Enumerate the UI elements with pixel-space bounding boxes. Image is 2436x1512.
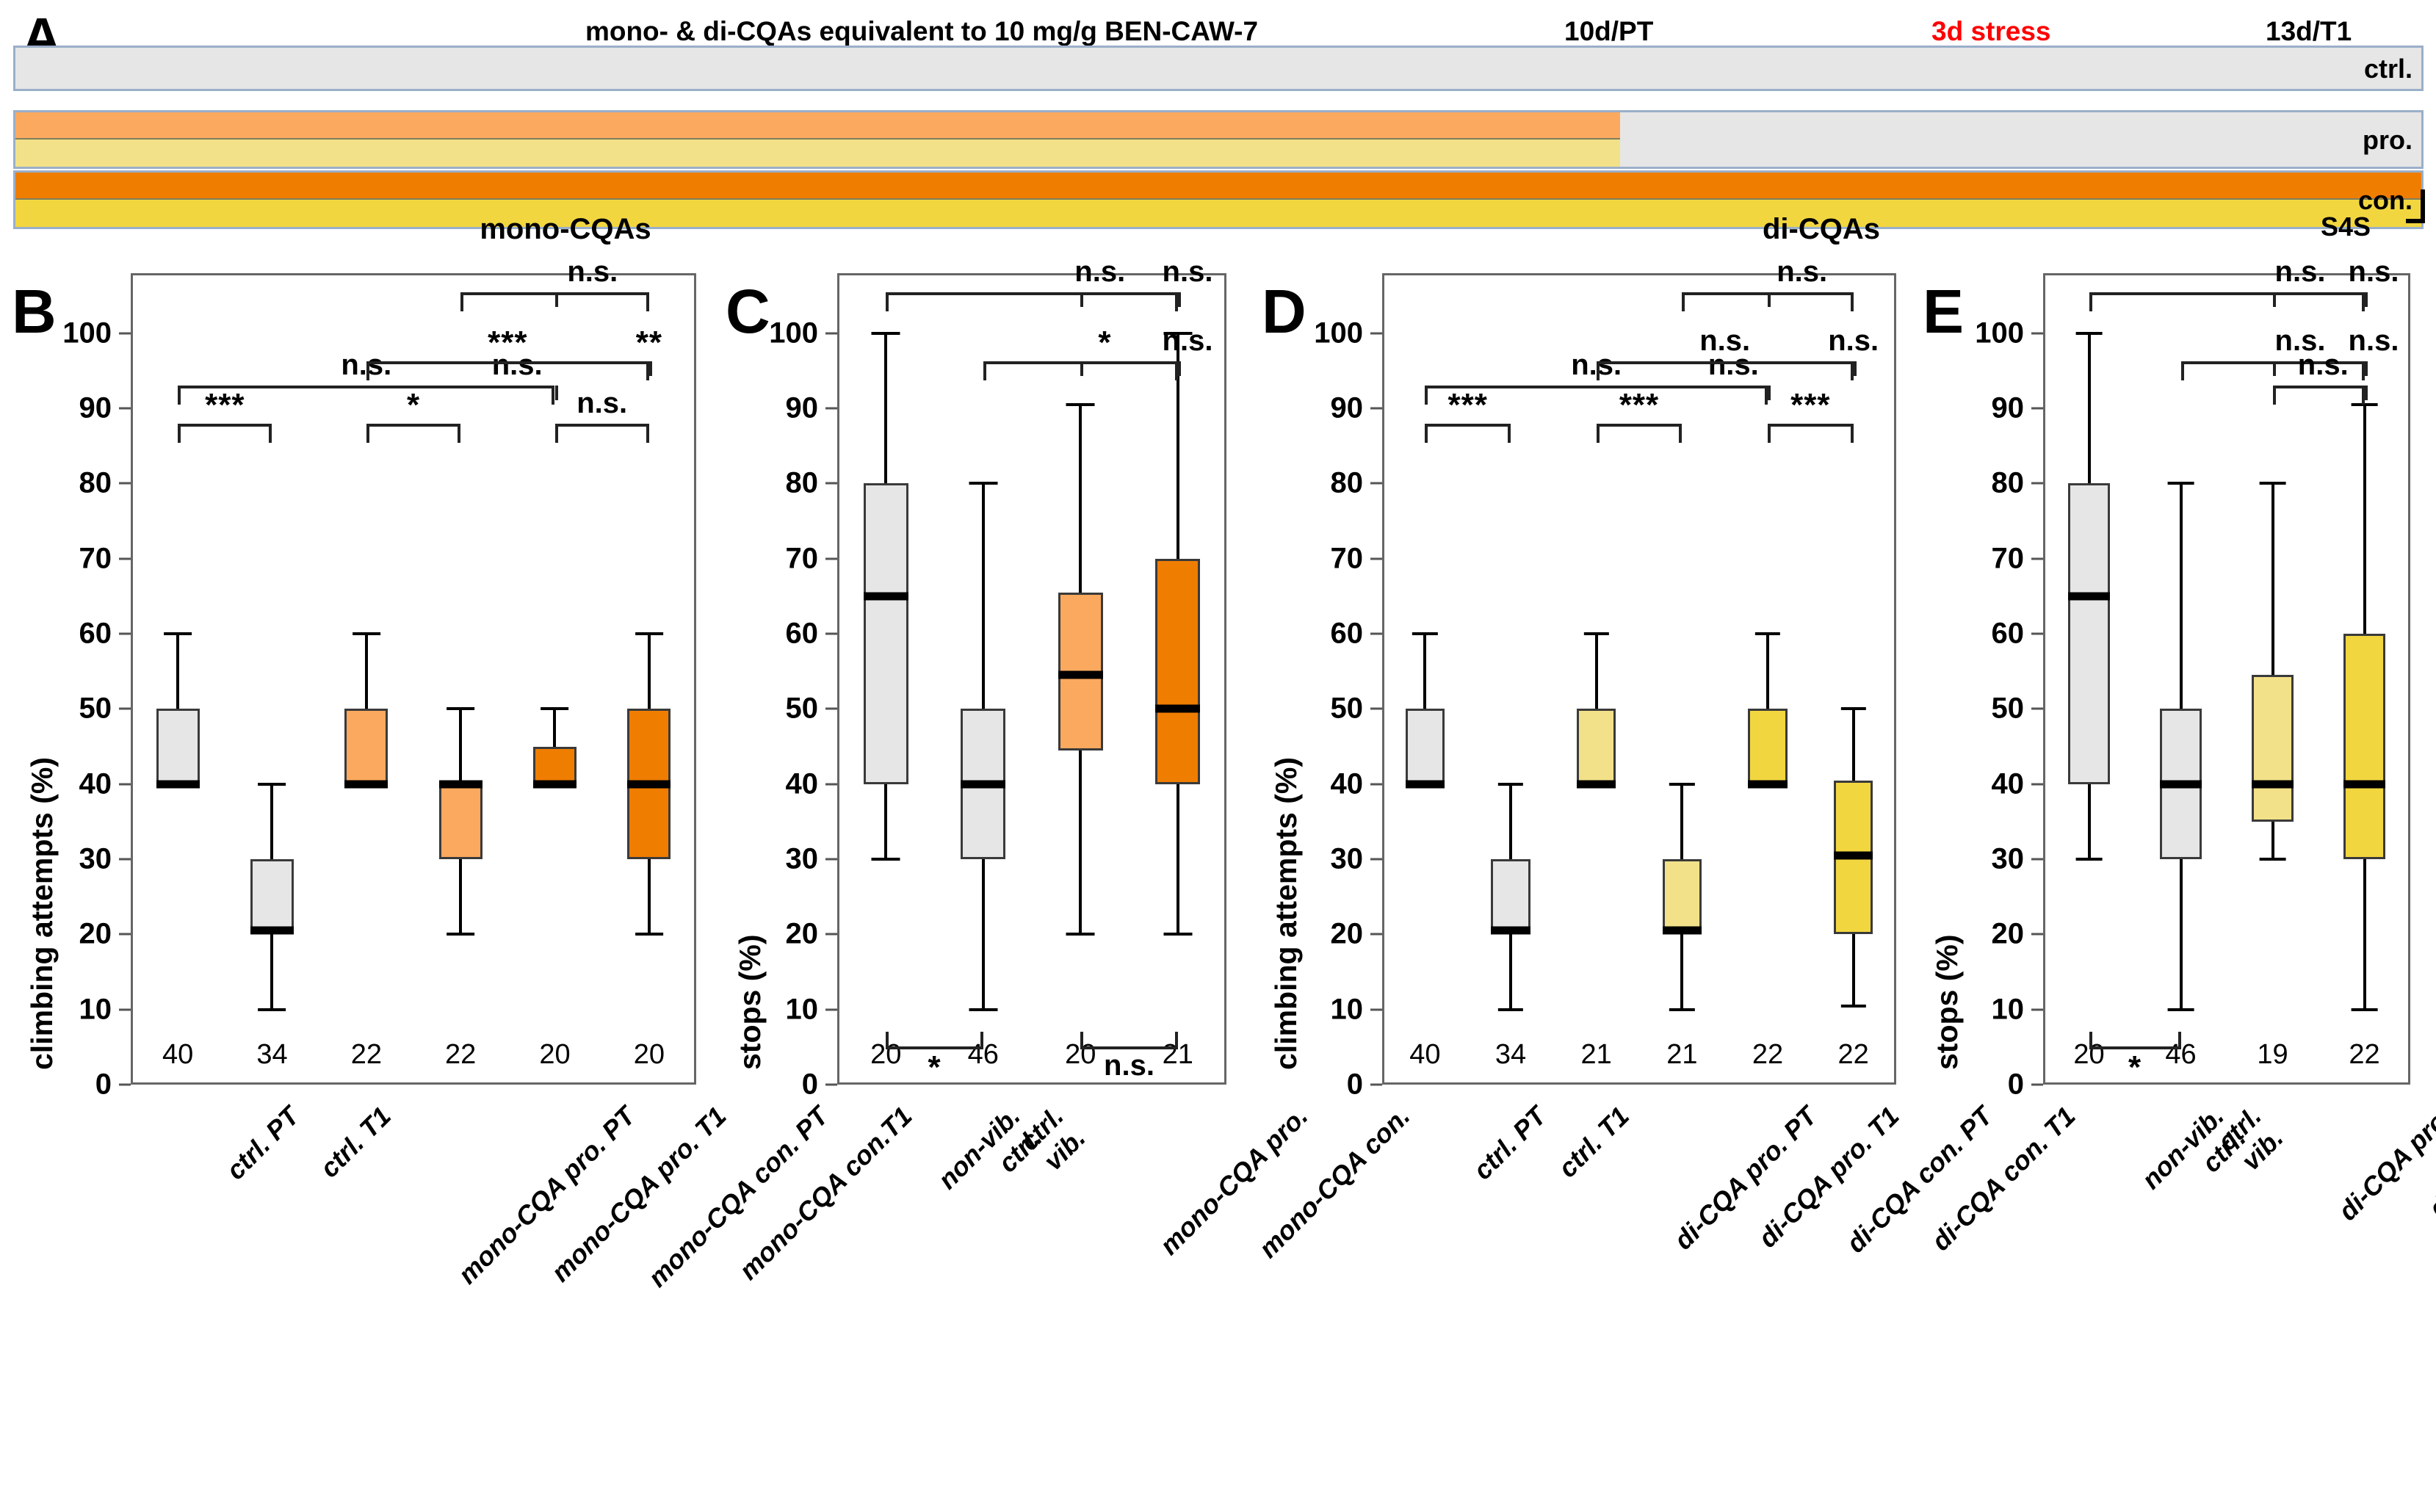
treatment-track-pro: pro.: [13, 110, 2424, 169]
boxplot-d-2: [1577, 258, 1616, 1085]
whisker-cap-lower: [969, 1008, 997, 1011]
y-tick-mark: [2031, 557, 2043, 560]
y-tick-label: 70: [31, 542, 112, 575]
whisker-upper: [2088, 333, 2091, 484]
median-line: [533, 780, 577, 788]
s4s-label: S4S: [2321, 211, 2371, 242]
x-axis-category-label: ctrl. T1: [314, 1101, 397, 1184]
y-tick-mark: [2031, 1084, 2043, 1086]
whisker-upper: [1079, 405, 1082, 593]
boxplot-b-4: [533, 258, 577, 1085]
y-tick-label: 100: [1943, 316, 2024, 350]
y-tick-label: 30: [1282, 843, 1363, 876]
significance-label: n.s.: [2275, 256, 2326, 289]
whisker-cap-upper: [1840, 707, 1865, 710]
y-tick-label: 90: [1282, 392, 1363, 425]
y-tick-label: 40: [737, 767, 818, 800]
whisker-cap-lower: [447, 933, 474, 936]
y-tick-mark: [1370, 933, 1382, 936]
significance-bracket-tick: [1178, 361, 1181, 376]
whisker-cap-upper: [1412, 632, 1437, 635]
iqr-box: [533, 747, 577, 784]
whisker-upper: [1423, 634, 1426, 709]
y-tick-mark: [2031, 858, 2043, 861]
whisker-upper: [1766, 634, 1769, 709]
panel-b-boxplot: Bclimbing attempts (%)010203040506070809…: [0, 258, 720, 1512]
y-tick-label: 10: [1943, 993, 2024, 1026]
whisker-cap-upper: [259, 783, 286, 786]
whisker-cap-upper: [541, 707, 569, 710]
median-line: [961, 780, 1005, 788]
x-axis-category-label: ctrl. T1: [1553, 1101, 1636, 1184]
whisker-lower: [1177, 784, 1179, 935]
y-tick-mark: [2031, 708, 2043, 710]
significance-bracket-tick: [1854, 361, 1857, 376]
x-axis-category-label: ctrl. PT: [1467, 1101, 1553, 1186]
y-tick-mark: [119, 408, 131, 410]
whisker-cap-upper: [635, 632, 663, 635]
iqr-box: [156, 709, 200, 784]
significance-label: n.s.: [1777, 256, 1827, 289]
sample-size-label: 21: [1666, 1039, 1697, 1071]
timeline-start-label: 10d/PT: [1564, 16, 1653, 47]
track-label-con: con.: [2358, 187, 2412, 214]
significance-label: n.s.: [2349, 325, 2399, 358]
y-tick-mark: [825, 633, 837, 635]
significance-bracket: [983, 361, 1178, 380]
significance-label: n.s.: [2349, 256, 2399, 289]
y-tick-mark: [2031, 332, 2043, 334]
significance-label: n.s.: [577, 387, 627, 420]
sample-size-label: 34: [256, 1039, 287, 1071]
y-tick-label: 80: [1282, 467, 1363, 500]
iqr-box: [1155, 559, 1200, 784]
significance-bracket: [2089, 1032, 2181, 1049]
significance-bracket: [178, 424, 272, 443]
y-tick-label: 70: [1943, 542, 2024, 575]
y-tick-label: 20: [31, 918, 112, 951]
y-tick-label: 80: [31, 467, 112, 500]
significance-bracket-tick: [555, 292, 558, 307]
y-tick-label: 90: [737, 392, 818, 425]
y-tick-label: 20: [1943, 918, 2024, 951]
y-tick-label: 30: [737, 843, 818, 876]
whisker-cap-lower: [1840, 1005, 1865, 1008]
track-label-ctrl: ctrl.: [2364, 56, 2412, 82]
whisker-cap-upper: [969, 482, 997, 485]
significance-bracket: [886, 1032, 983, 1049]
y-tick-mark: [1370, 633, 1382, 635]
whisker-lower: [1509, 934, 1512, 1009]
significance-label: n.s.: [1074, 256, 1125, 289]
y-tick-mark: [825, 1084, 837, 1086]
sample-size-label: 40: [162, 1039, 193, 1071]
whisker-cap-upper: [164, 632, 192, 635]
significance-bracket: [1080, 1032, 1178, 1049]
track-segment-di-cqa-light-yellow: [15, 140, 1620, 167]
whisker-lower: [884, 784, 887, 859]
whisker-upper: [2271, 483, 2274, 675]
boxplot-e-0: [2068, 258, 2111, 1085]
significance-bracket-tick: [2365, 386, 2368, 400]
y-tick-label: 50: [737, 692, 818, 726]
median-line: [1748, 780, 1788, 788]
x-axis-category-label: mono-CQA pro. T1: [545, 1101, 732, 1288]
median-line: [1406, 780, 1445, 788]
whisker-cap-lower: [2075, 858, 2103, 861]
y-tick-label: 60: [31, 618, 112, 651]
sample-size-label: 22: [2349, 1039, 2379, 1071]
whisker-upper: [1680, 784, 1683, 859]
y-tick-label: 50: [1282, 692, 1363, 726]
significance-label: n.s.: [1828, 325, 1879, 358]
significance-bracket-tick: [649, 361, 652, 376]
significance-label: *: [928, 1049, 941, 1086]
whisker-lower: [459, 859, 462, 934]
y-tick-label: 0: [737, 1068, 818, 1102]
significance-bracket: [366, 424, 460, 443]
median-line: [2252, 780, 2294, 788]
median-line: [2343, 780, 2386, 788]
boxplot-c-3: [1155, 258, 1200, 1085]
x-axis-category-label: di-CQA pro. PT: [1668, 1101, 1823, 1256]
whisker-upper: [1509, 784, 1512, 859]
panel-d-boxplot: Dclimbing attempts (%)010203040506070809…: [1256, 258, 1917, 1512]
significance-bracket: [178, 386, 554, 405]
sample-size-label: 20: [539, 1039, 570, 1071]
sample-size-label: 22: [445, 1039, 476, 1071]
significance-label: n.s.: [567, 256, 618, 289]
iqr-box: [1663, 859, 1702, 934]
boxplot-c-2: [1058, 258, 1103, 1085]
whisker-lower: [2088, 784, 2091, 859]
y-tick-label: 50: [31, 692, 112, 726]
y-tick-label: 60: [737, 618, 818, 651]
significance-label: n.s.: [1104, 1049, 1154, 1082]
y-tick-label: 40: [1282, 767, 1363, 800]
y-tick-label: 30: [31, 843, 112, 876]
sample-size-label: 34: [1495, 1039, 1526, 1071]
y-tick-label: 70: [737, 542, 818, 575]
sample-size-label: 22: [351, 1039, 382, 1071]
boxplot-e-2: [2252, 258, 2294, 1085]
whisker-upper: [270, 784, 273, 859]
iqr-box: [864, 483, 908, 784]
whisker-cap-upper: [2167, 482, 2194, 485]
whisker-upper: [884, 333, 887, 484]
iqr-box: [2343, 634, 2386, 859]
whisker-upper: [1852, 709, 1855, 780]
y-tick-label: 10: [31, 993, 112, 1026]
whisker-cap-upper: [1755, 632, 1780, 635]
significance-bracket-tick: [2365, 292, 2368, 307]
whisker-cap-lower: [2259, 858, 2286, 861]
significance-bracket: [1597, 424, 1683, 443]
median-line: [1491, 927, 1530, 935]
whisker-cap-upper: [353, 632, 380, 635]
whisker-cap-lower: [635, 933, 663, 936]
iqr-box: [2068, 483, 2111, 784]
y-tick-label: 20: [1282, 918, 1363, 951]
y-tick-mark: [119, 858, 131, 861]
boxplot-d-5: [1834, 258, 1873, 1085]
significance-label: n.s.: [1699, 325, 1750, 358]
y-tick-mark: [119, 482, 131, 485]
significance-bracket: [1425, 386, 1768, 405]
significance-bracket: [2089, 292, 2365, 311]
y-tick-label: 70: [1282, 542, 1363, 575]
significance-label: *: [1098, 325, 1111, 361]
sample-size-label: 19: [2257, 1039, 2288, 1071]
panel-c-boxplot: Cstops (%)010203040506070809010020non-vi…: [720, 258, 1256, 1512]
y-tick-label: 90: [1943, 392, 2024, 425]
x-axis-category-label: mono-CQA pro. PT: [452, 1101, 641, 1290]
significance-label: ***: [1790, 387, 1830, 424]
whisker-lower: [2271, 822, 2274, 859]
y-tick-label: 40: [31, 767, 112, 800]
boxplot-d-3: [1663, 258, 1702, 1085]
y-tick-mark: [2031, 482, 2043, 485]
y-tick-label: 60: [1943, 618, 2024, 651]
iqr-box: [1491, 859, 1530, 934]
y-tick-mark: [1370, 557, 1382, 560]
y-tick-mark: [119, 1084, 131, 1086]
sample-size-label: 40: [1409, 1039, 1440, 1071]
significance-bracket: [1425, 424, 1511, 443]
whisker-upper: [1595, 634, 1598, 709]
boxplot-e-1: [2160, 258, 2202, 1085]
whisker-cap-upper: [2075, 332, 2103, 335]
whisker-cap-lower: [872, 858, 900, 861]
median-line: [1834, 851, 1873, 859]
y-tick-mark: [1370, 408, 1382, 410]
significance-bracket: [1768, 424, 1854, 443]
panel-a-title: mono- & di-CQAs equivalent to 10 mg/g BE…: [345, 16, 1498, 47]
median-line: [2160, 780, 2202, 788]
track-segment-mono-cqa-light-orange: [15, 112, 1620, 140]
iqr-box: [439, 784, 482, 859]
y-tick-label: 80: [1943, 467, 2024, 500]
y-tick-mark: [825, 933, 837, 936]
y-tick-mark: [119, 557, 131, 560]
y-tick-mark: [825, 557, 837, 560]
significance-bracket-tick: [1768, 292, 1771, 307]
whisker-cap-upper: [872, 332, 900, 335]
whisker-cap-upper: [1669, 783, 1694, 786]
y-tick-mark: [1370, 1084, 1382, 1086]
y-tick-mark: [825, 482, 837, 485]
sample-size-label: 22: [1752, 1039, 1783, 1071]
whisker-cap-upper: [1498, 783, 1523, 786]
boxplot-d-1: [1491, 258, 1530, 1085]
whisker-cap-upper: [447, 707, 474, 710]
y-tick-mark: [825, 783, 837, 785]
whisker-lower: [1852, 934, 1855, 1005]
whisker-cap-lower: [1669, 1008, 1694, 1011]
significance-bracket-tick: [1768, 386, 1771, 400]
median-line: [1058, 671, 1103, 679]
y-tick-mark: [825, 708, 837, 710]
y-tick-mark: [1370, 1008, 1382, 1010]
iqr-box: [250, 859, 294, 934]
y-tick-label: 60: [1282, 618, 1363, 651]
median-line: [864, 592, 908, 600]
significance-bracket-tick: [2365, 361, 2368, 376]
x-axis-category-label: ctrl. PT: [220, 1101, 306, 1186]
y-tick-label: 30: [1943, 843, 2024, 876]
y-tick-mark: [1370, 858, 1382, 861]
y-tick-label: 0: [1943, 1068, 2024, 1102]
median-line: [1577, 780, 1616, 788]
iqr-box: [1577, 709, 1616, 784]
whisker-lower: [1079, 750, 1082, 935]
whisker-lower: [648, 859, 651, 934]
median-line: [1663, 927, 1702, 935]
whisker-cap-lower: [1163, 933, 1192, 936]
significance-bracket: [1597, 361, 1854, 380]
whisker-lower: [2363, 859, 2366, 1010]
y-tick-mark: [119, 933, 131, 936]
treatment-track-ctrl: ctrl.: [13, 46, 2424, 91]
y-tick-mark: [119, 633, 131, 635]
timeline-stress-label: 3d stress: [1931, 16, 2051, 47]
significance-label: *: [2128, 1049, 2142, 1086]
panel-a-treatment-timeline: A mono- & di-CQAs equivalent to 10 mg/g …: [0, 0, 2436, 258]
median-line: [439, 780, 482, 788]
y-tick-mark: [1370, 332, 1382, 334]
iqr-box: [2252, 675, 2294, 822]
group-label-di-cqas: di-CQAs: [1528, 213, 2115, 246]
significance-bracket-tick: [1178, 292, 1181, 307]
whisker-cap-upper: [2259, 482, 2286, 485]
significance-bracket: [2273, 386, 2365, 405]
whisker-upper: [982, 483, 985, 709]
y-tick-label: 50: [1943, 692, 2024, 726]
group-label-mono-cqas: mono-CQAs: [272, 213, 859, 246]
median-line: [2068, 592, 2111, 600]
timeline-end-label: 13d/T1: [2266, 16, 2352, 47]
significance-bracket: [886, 292, 1178, 311]
whisker-upper: [648, 634, 651, 709]
x-axis-category-label: di-CQA pro.: [2332, 1101, 2436, 1227]
y-tick-label: 0: [31, 1068, 112, 1102]
significance-label: n.s.: [1163, 256, 1213, 289]
y-tick-mark: [825, 408, 837, 410]
boxplot-c-1: [961, 258, 1005, 1085]
y-tick-label: 90: [31, 392, 112, 425]
median-line: [156, 780, 200, 788]
whisker-upper: [2363, 405, 2366, 634]
whisker-cap-lower: [1498, 1008, 1523, 1011]
median-line: [344, 780, 388, 788]
y-tick-mark: [825, 332, 837, 334]
significance-label: n.s.: [2298, 349, 2349, 382]
whisker-upper: [459, 709, 462, 784]
median-line: [250, 927, 294, 935]
whisker-upper: [2180, 483, 2183, 709]
y-tick-label: 10: [1282, 993, 1363, 1026]
y-tick-label: 10: [737, 993, 818, 1026]
significance-label: **: [636, 325, 662, 361]
y-tick-label: 0: [1282, 1068, 1363, 1102]
whisker-cap-lower: [1066, 933, 1095, 936]
boxplot-b-3: [439, 258, 482, 1085]
y-tick-mark: [119, 332, 131, 334]
iqr-box: [344, 709, 388, 784]
y-tick-label: 40: [1943, 767, 2024, 800]
boxplot-c-0: [864, 258, 908, 1085]
whisker-lower: [1680, 934, 1683, 1009]
y-tick-label: 100: [31, 316, 112, 350]
y-tick-label: 20: [737, 918, 818, 951]
y-tick-label: 100: [737, 316, 818, 350]
boxplot-b-2: [344, 258, 388, 1085]
y-tick-mark: [119, 1008, 131, 1010]
whisker-upper: [365, 634, 368, 709]
whisker-cap-lower: [2351, 1008, 2378, 1011]
y-tick-mark: [1370, 783, 1382, 785]
track-segment-post-treatment-grey: [1620, 112, 2421, 167]
y-tick-label: 80: [737, 467, 818, 500]
boxplot-d-4: [1748, 258, 1788, 1085]
whisker-upper: [176, 634, 179, 709]
median-line: [627, 780, 671, 788]
y-tick-mark: [2031, 633, 2043, 635]
sample-size-label: 21: [1581, 1039, 1612, 1071]
significance-label: ***: [488, 325, 527, 361]
whisker-cap-upper: [1583, 632, 1608, 635]
y-tick-mark: [825, 1008, 837, 1010]
significance-bracket: [366, 361, 649, 380]
whisker-lower: [2180, 859, 2183, 1010]
whisker-cap-upper: [1066, 403, 1095, 406]
track-label-pro: pro.: [2363, 127, 2412, 153]
median-line: [1155, 705, 1200, 713]
boxplot-b-5: [627, 258, 671, 1085]
significance-bracket: [555, 424, 649, 443]
boxplot-d-0: [1406, 258, 1445, 1085]
y-tick-mark: [1370, 708, 1382, 710]
whisker-lower: [270, 934, 273, 1009]
significance-bracket-tick: [555, 386, 558, 400]
y-tick-label: 100: [1282, 316, 1363, 350]
track-segment-mono-cqa-orange: [15, 173, 2421, 200]
sample-size-label: 22: [1838, 1039, 1869, 1071]
y-tick-mark: [825, 858, 837, 861]
whisker-cap-lower: [259, 1008, 286, 1011]
sample-size-label: 20: [634, 1039, 665, 1071]
whisker-upper: [553, 709, 556, 746]
whisker-lower: [982, 859, 985, 1010]
iqr-box: [1748, 709, 1788, 784]
y-tick-mark: [2031, 408, 2043, 410]
boxplot-b-0: [156, 258, 200, 1085]
y-tick-mark: [2031, 1008, 2043, 1010]
y-tick-mark: [119, 708, 131, 710]
boxplot-b-1: [250, 258, 294, 1085]
s4s-bracket-icon: [2406, 189, 2425, 223]
y-tick-mark: [1370, 482, 1382, 485]
y-tick-mark: [2031, 783, 2043, 785]
panel-e-boxplot: Estops (%)010203040506070809010020non-vi…: [1917, 258, 2436, 1512]
y-tick-mark: [119, 783, 131, 785]
iqr-box: [1406, 709, 1445, 784]
significance-label: n.s.: [1163, 325, 1213, 358]
boxplot-e-3: [2343, 258, 2386, 1085]
whisker-cap-lower: [2167, 1008, 2194, 1011]
track-segment-control-grey: [15, 48, 2421, 89]
y-tick-mark: [2031, 933, 2043, 936]
